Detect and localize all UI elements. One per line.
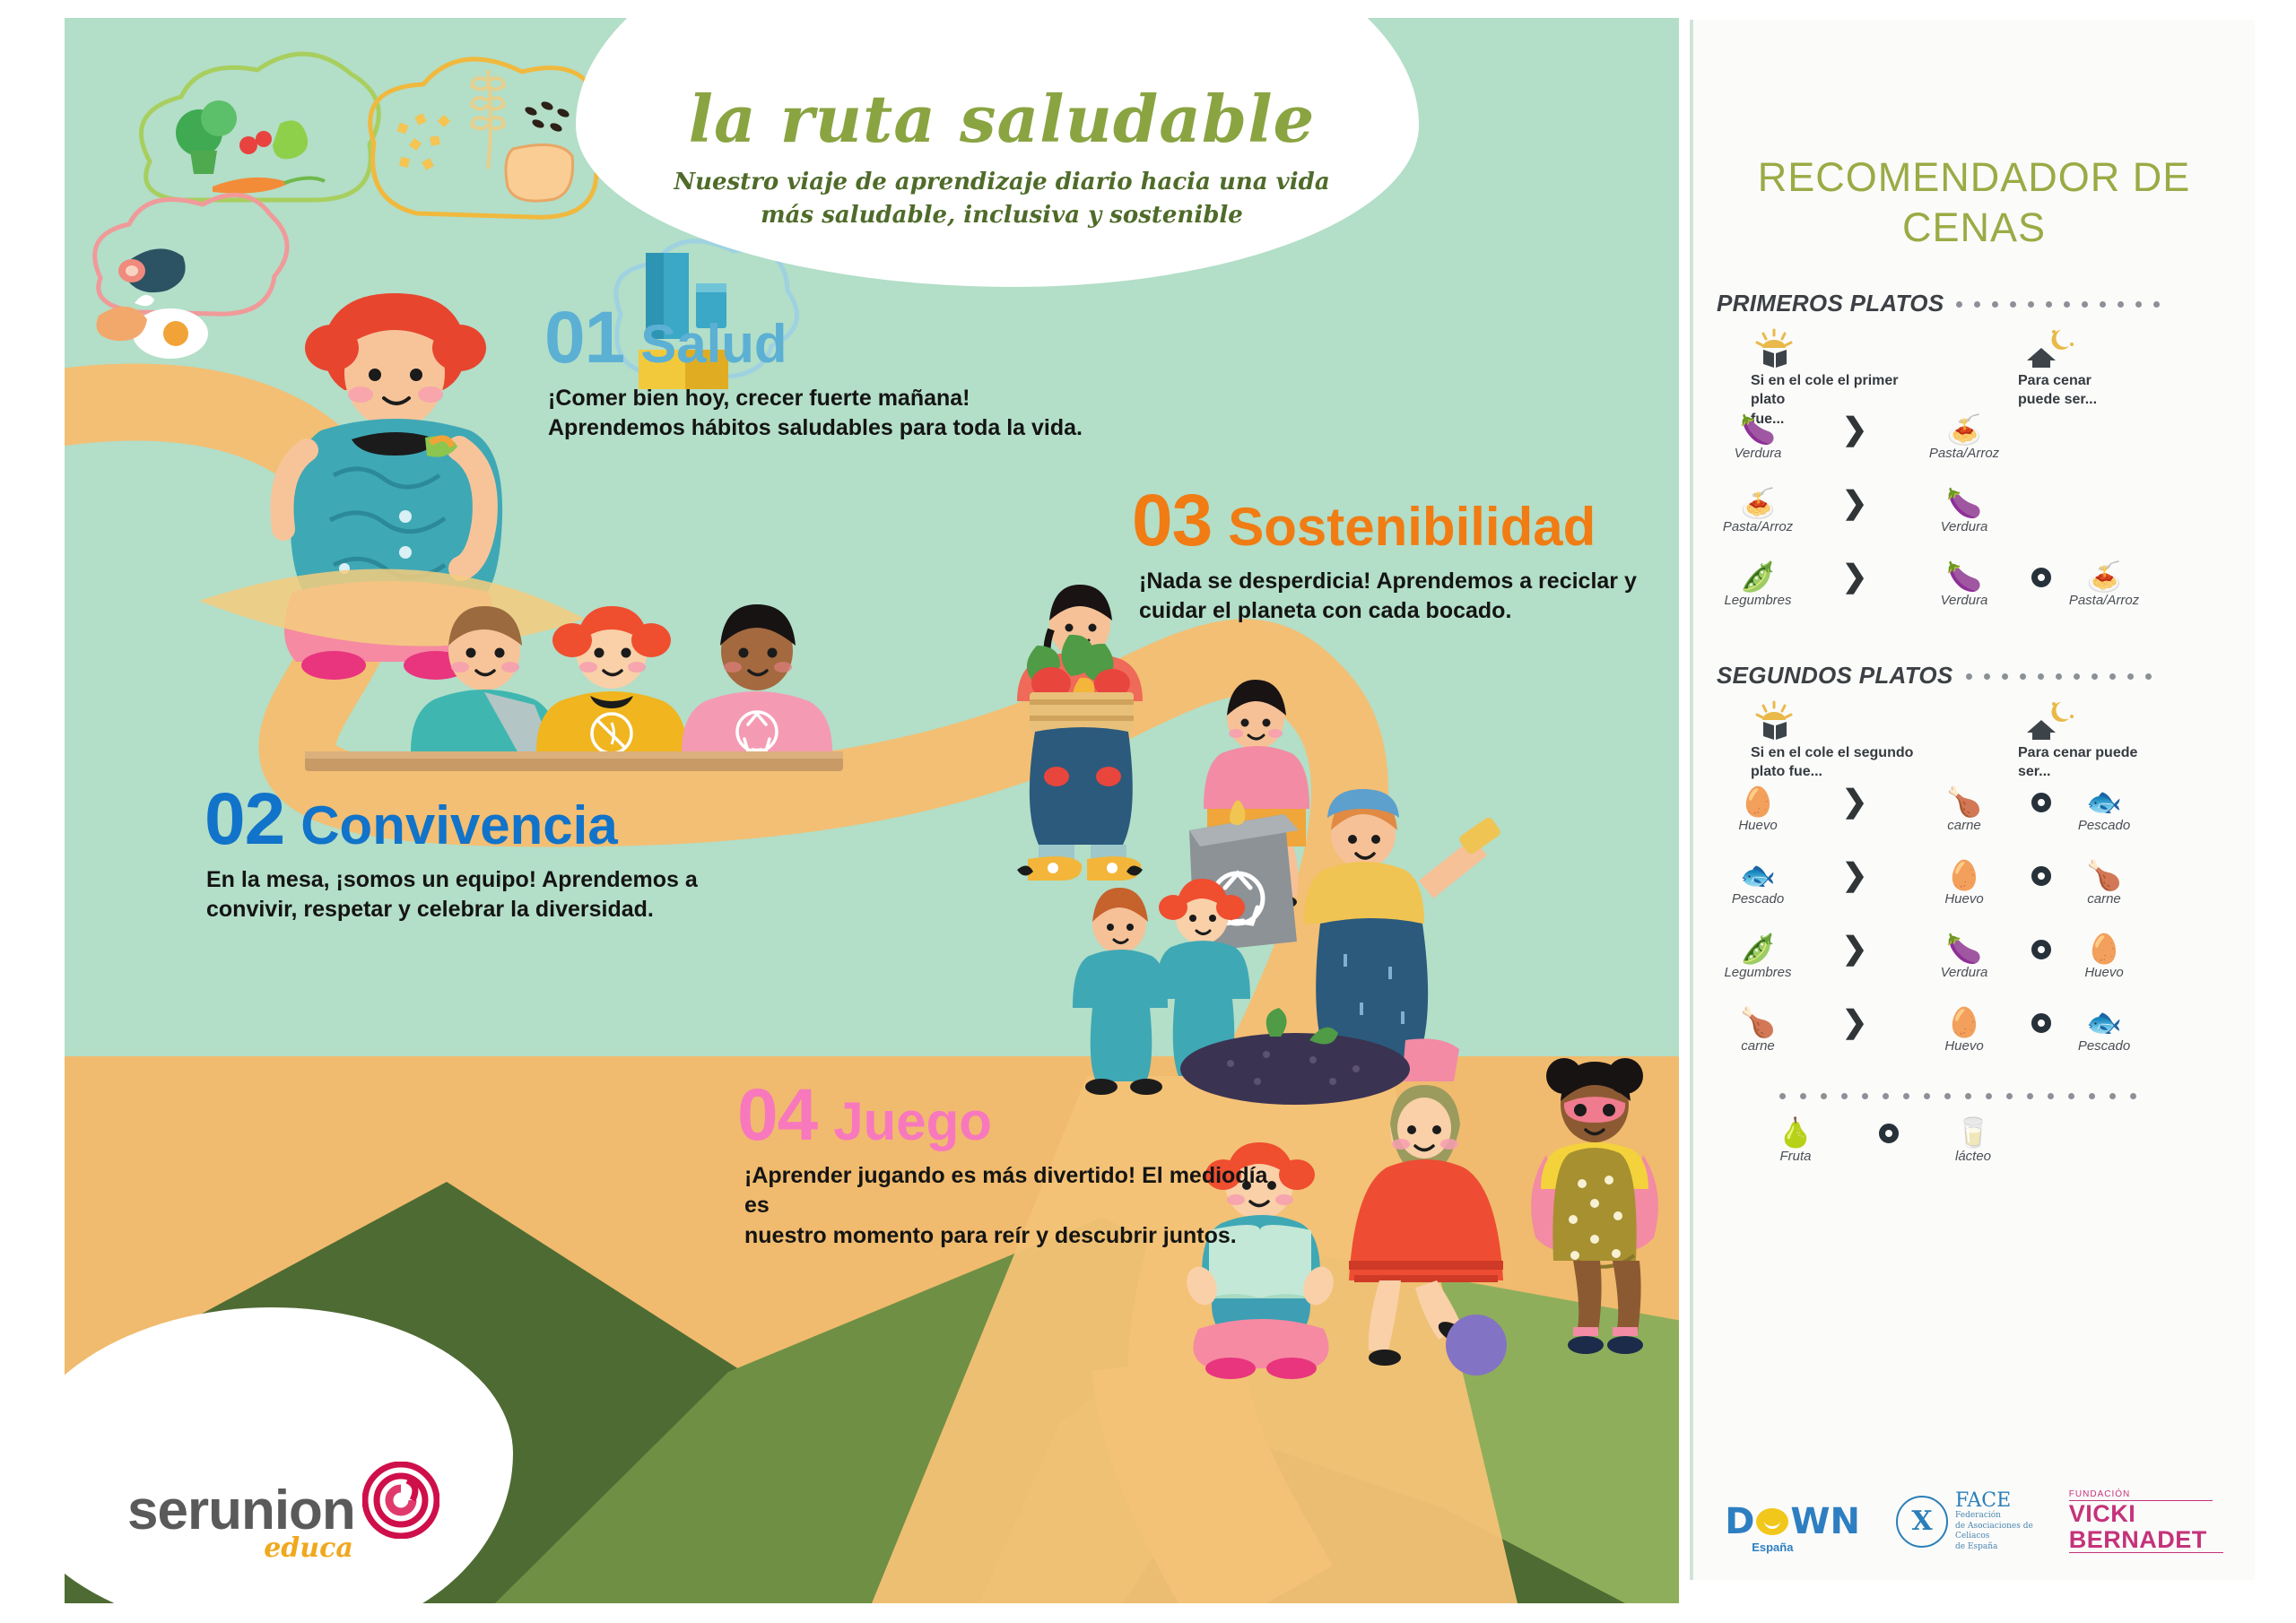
or-ring-icon — [2031, 866, 2051, 886]
moon-icon-2 — [2052, 702, 2074, 722]
postre-lacteo-label: lácteo — [1925, 1150, 2022, 1165]
segundos-row: 🫛Legumbres❯🍆Verdura🥚Huevo — [1693, 932, 2255, 1005]
pasta-bowl-icon: 🍝 — [1709, 486, 1806, 520]
primeros-to1-label: Verdura — [1916, 520, 2013, 535]
section-sostenibilidad-title: Sostenibilidad — [1228, 501, 1596, 552]
segundos-row: 🥚Huevo❯🍗carne🐟Pescado — [1693, 785, 2255, 858]
face-text: FACE Federación de Asociaciones de Celia… — [1955, 1490, 2033, 1553]
yogurt-icon: 🥛 — [1925, 1115, 2022, 1150]
primeros-row: 🍆Verdura❯🍝Pasta/Arroz — [1693, 412, 2255, 486]
egg-icon: 🥚 — [1916, 1005, 2013, 1039]
pea-pod-icon: 🫛 — [1709, 932, 1806, 966]
page-subtitle: Nuestro viaje de aprendizaje diario haci… — [621, 166, 1383, 233]
pasta-bowl-icon: 🍝 — [1916, 412, 2013, 447]
egg-icon: 🥚 — [1709, 785, 1806, 819]
moon-icon — [2052, 330, 2074, 350]
primeros-dinner-line2: puede ser... — [2018, 390, 2152, 410]
face-desc-2: de Asociaciones de — [1955, 1522, 2033, 1532]
section-convivencia: 02 Convivencia En la mesa, ¡somos un equ… — [197, 785, 717, 925]
brand-tagline: educa — [264, 1532, 353, 1564]
section-juego-number: 04 — [737, 1081, 817, 1150]
meat-icon: 🍗 — [2056, 858, 2152, 892]
or-ring-icon — [2031, 1013, 2051, 1033]
eggplant-icon: 🍆 — [1709, 412, 1806, 447]
juego-desc-line-2: nuestro momento para reír y descubrir ju… — [744, 1221, 1284, 1252]
title-block: la ruta saludable Nuestro viaje de apren… — [621, 85, 1383, 233]
postre-row: 🍐 Fruta 🥛 lácteo — [1693, 1115, 2255, 1189]
segundos-to2-cell: 🍗carne — [2056, 858, 2152, 907]
segundos-to2-cell: 🐟Pescado — [2056, 785, 2152, 834]
section-sostenibilidad-heading: 03 Sostenibilidad — [1132, 486, 1652, 556]
segundos-platos-header: SEGUNDOS PLATOS — [1717, 662, 2255, 690]
brand-name: serunion — [127, 1483, 355, 1539]
subtitle-line-1: Nuestro viaje de aprendizaje diario haci… — [621, 166, 1383, 200]
primeros-to2-label: Pasta/Arroz — [2056, 594, 2152, 609]
segundos-rows: 🥚Huevo❯🍗carne🐟Pescado🐟Pescado❯🥚Huevo🍗car… — [1693, 785, 2255, 1079]
or-ring-icon — [2031, 568, 2051, 587]
or-ring-icon — [1879, 1124, 1899, 1143]
convivencia-desc-line-2: convivir, respetar y celebrar la diversi… — [206, 895, 717, 925]
sun-book-icon-group-2 — [1751, 699, 1831, 740]
segundos-school-line1: Si en el cole el segundo — [1751, 743, 1921, 763]
down-letter-d: D — [1725, 1504, 1754, 1540]
or-ring-icon — [2031, 940, 2051, 959]
recommender-title-line-2: CENAS — [1724, 203, 2224, 253]
vicki-line-2: BERNADET — [2069, 1527, 2223, 1553]
primeros-to1-cell: 🍝Pasta/Arroz — [1916, 412, 2013, 462]
primeros-from-label: Legumbres — [1709, 594, 1806, 609]
school-icons — [1751, 326, 1921, 368]
segundos-dinner-line2: ser... — [2018, 762, 2152, 782]
down-letters-wn: WN — [1790, 1504, 1860, 1540]
primeros-row: 🍝Pasta/Arroz❯🍆Verdura — [1693, 486, 2255, 560]
sostenibilidad-desc-line-2: cuidar el planeta con cada bocado. — [1139, 596, 1652, 627]
primeros-school-line1: Si en el cole el primer plato — [1751, 371, 1921, 410]
face-name: FACE — [1955, 1490, 2033, 1511]
segundos-from-cell: 🫛Legumbres — [1709, 932, 1806, 981]
segundos-dinner-text: Para cenar puede ser... — [2018, 743, 2152, 782]
section-juego-description: ¡Aprender jugando es más divertido! El m… — [744, 1161, 1284, 1252]
segundos-col-dinner: Para cenar puede ser... — [2018, 699, 2152, 782]
recommender-title: RECOMENDADOR DE CENAS — [1724, 152, 2224, 254]
primeros-arrow-cell: ❯ — [1828, 560, 1882, 594]
primeros-from-cell: 🍝Pasta/Arroz — [1709, 486, 1806, 535]
segundos-to1-cell: 🍗carne — [1916, 785, 2013, 834]
postre-or-cell — [1869, 1115, 1909, 1143]
section-juego-title: Juego — [833, 1096, 992, 1147]
serunion-wordmark: serunion educa — [127, 1483, 355, 1539]
eggplant-icon: 🍆 — [1916, 932, 2013, 966]
primeros-from-label: Pasta/Arroz — [1709, 520, 1806, 535]
salud-desc-line-1: ¡Comer bien hoy, crecer fuerte mañana! — [548, 384, 1118, 414]
fish-icon: 🐟 — [1709, 858, 1806, 892]
segundos-to2-label: Pescado — [2056, 819, 2152, 834]
segundos-to1-label: Huevo — [1916, 1039, 2013, 1055]
segundos-from-cell: 🍗carne — [1709, 1005, 1806, 1055]
down-espana-logo: D WN España — [1725, 1504, 1860, 1540]
primeros-platos-label: PRIMEROS PLATOS — [1717, 290, 1944, 317]
segundos-arrow-cell: ❯ — [1828, 1005, 1882, 1039]
meat-icon: 🍗 — [1709, 1005, 1806, 1039]
segundos-to2-cell: 🐟Pescado — [2056, 1005, 2152, 1055]
dinner-recommender-panel: RECOMENDADOR DE CENAS PRIMEROS PLATOS — [1690, 20, 2255, 1580]
section-salud-number: 01 — [544, 303, 624, 373]
serunion-educa-logo: serunion educa — [127, 1462, 439, 1539]
section-sostenibilidad-description: ¡Nada se desperdicia! Aprendemos a recic… — [1139, 567, 1652, 627]
face-desc-4: de España — [1955, 1542, 2033, 1553]
primeros-to1-cell: 🍆Verdura — [1916, 486, 2013, 535]
segundos-to1-cell: 🥚Huevo — [1916, 1005, 2013, 1055]
fish-icon: 🐟 — [2056, 785, 2152, 819]
postre-lacteo-cell: 🥛 lácteo — [1925, 1115, 2022, 1165]
segundos-dinner-line1: Para cenar puede — [2018, 743, 2152, 763]
egg-icon: 🥚 — [1916, 858, 2013, 892]
sun-body — [1762, 340, 1786, 348]
segundos-to1-cell: 🥚Huevo — [1916, 858, 2013, 907]
section-salud-description: ¡Comer bien hoy, crecer fuerte mañana! A… — [548, 384, 1118, 444]
chevron-right-icon: ❯ — [1828, 785, 1882, 819]
segundos-school-text: Si en el cole el segundo plato fue... — [1751, 743, 1921, 782]
segundos-to1-cell: 🍆Verdura — [1916, 932, 2013, 981]
postre-fruta-label: Fruta — [1747, 1150, 1844, 1165]
postre-fruta-cell: 🍐 Fruta — [1747, 1115, 1844, 1165]
primeros-platos-header: PRIMEROS PLATOS — [1717, 290, 2255, 317]
book-icon-2 — [1763, 722, 1787, 740]
face-dna-wheat-icon: X — [1896, 1496, 1948, 1548]
postre-dots-divider — [1779, 1093, 2255, 1099]
segundos-to2-label: Huevo — [2056, 966, 2152, 981]
salud-desc-line-2: Aprendemos hábitos saludables para toda … — [548, 413, 1118, 444]
segundos-dots-divider — [1966, 671, 2255, 680]
section-juego: 04 Juego ¡Aprender jugando es más divert… — [737, 1081, 1284, 1251]
primeros-from-label: Verdura — [1709, 447, 1806, 462]
subtitle-line-2: más saludable, inclusiva y sostenible — [621, 199, 1383, 233]
segundos-from-cell: 🐟Pescado — [1709, 858, 1806, 907]
down-smiley-o-icon — [1756, 1508, 1788, 1535]
recommender-title-line-1: RECOMENDADOR DE — [1724, 152, 2224, 203]
section-salud-title: Salud — [640, 318, 787, 369]
vicki-bernadet-logo: FUNDACIÓN VICKI BERNADET — [2069, 1489, 2223, 1553]
section-salud-heading: 01 Salud — [544, 303, 1118, 373]
section-sostenibilidad: 03 Sostenibilidad ¡Nada se desperdicia! … — [1132, 486, 1652, 627]
segundos-from-label: Pescado — [1709, 892, 1806, 907]
section-salud: 01 Salud ¡Comer bien hoy, crecer fuerte … — [544, 303, 1118, 444]
face-desc-1: Federación — [1955, 1511, 2033, 1522]
meat-icon: 🍗 — [1916, 785, 2013, 819]
infographic-panel: la ruta saludable Nuestro viaje de apren… — [65, 18, 1679, 1603]
school-icons-2 — [1751, 699, 1921, 740]
primeros-row: 🫛Legumbres❯🍆Verdura🍝Pasta/Arroz — [1693, 560, 2255, 633]
primeros-dinner-text: Para cenar puede ser... — [2018, 371, 2152, 410]
segundos-to1-label: Verdura — [1916, 966, 2013, 981]
segundos-column-headers: Si en el cole el segundo plato fue... — [1693, 699, 2255, 785]
chevron-right-icon: ❯ — [1828, 560, 1882, 594]
primeros-dots-divider — [1956, 299, 2255, 308]
segundos-to2-label: carne — [2056, 892, 2152, 907]
primeros-from-cell: 🫛Legumbres — [1709, 560, 1806, 609]
chevron-right-icon: ❯ — [1828, 1005, 1882, 1039]
chevron-right-icon: ❯ — [1828, 412, 1882, 447]
segundos-platos-label: SEGUNDOS PLATOS — [1717, 662, 1953, 690]
partner-logos: D WN España X FACE Federación de Asociac… — [1693, 1489, 2255, 1553]
vicki-line-1: VICKI — [2069, 1501, 2136, 1526]
house-icon-2 — [2027, 720, 2056, 740]
sun-body-2 — [1762, 712, 1786, 720]
or-ring-icon — [2031, 793, 2051, 812]
convivencia-desc-line-1: En la mesa, ¡somos un equipo! Aprendemos… — [206, 865, 717, 896]
chevron-right-icon: ❯ — [1828, 858, 1882, 892]
segundos-to1-label: carne — [1916, 819, 2013, 834]
primeros-rows: 🍆Verdura❯🍝Pasta/Arroz🍝Pasta/Arroz❯🍆Verdu… — [1693, 412, 2255, 633]
primeros-arrow-cell: ❯ — [1828, 412, 1882, 447]
segundos-col-school: Si en el cole el segundo plato fue... — [1751, 699, 1921, 782]
egg-icon: 🥚 — [2056, 932, 2152, 966]
primeros-col-dinner: Para cenar puede ser... — [2018, 326, 2152, 410]
poster-root: la ruta saludable Nuestro viaje de apren… — [0, 0, 2296, 1623]
sostenibilidad-desc-line-1: ¡Nada se desperdicia! Aprendemos a recic… — [1139, 567, 1652, 597]
primeros-column-headers: Si en el cole el primer plato fue... — [1693, 326, 2255, 412]
eggplant-icon: 🍆 — [1916, 560, 2013, 594]
segundos-row: 🍗carne❯🥚Huevo🐟Pescado — [1693, 1005, 2255, 1079]
segundos-to2-cell: 🥚Huevo — [2056, 932, 2152, 981]
section-convivencia-description: En la mesa, ¡somos un equipo! Aprendemos… — [206, 865, 717, 925]
fruit-icon: 🍐 — [1747, 1115, 1844, 1150]
primeros-to1-label: Verdura — [1916, 594, 2013, 609]
segundos-arrow-cell: ❯ — [1828, 932, 1882, 966]
primeros-from-cell: 🍆Verdura — [1709, 412, 1806, 462]
book-icon — [1763, 350, 1787, 368]
segundos-arrow-cell: ❯ — [1828, 858, 1882, 892]
juego-desc-line-1: ¡Aprender jugando es más divertido! El m… — [744, 1161, 1284, 1221]
primeros-to1-label: Pasta/Arroz — [1916, 447, 2013, 462]
sun-book-icon-group — [1751, 326, 1831, 368]
segundos-to2-label: Pescado — [2056, 1039, 2152, 1055]
eggplant-icon: 🍆 — [1916, 486, 2013, 520]
dinner-icons — [2018, 326, 2152, 368]
chevron-right-icon: ❯ — [1828, 486, 1882, 520]
face-desc-3: Celiacos — [1955, 1532, 2033, 1542]
moon-house-icon-group — [2018, 326, 2090, 368]
chevron-right-icon: ❯ — [1828, 932, 1882, 966]
serunion-swirl-icon — [362, 1462, 439, 1539]
primeros-to2-cell: 🍝Pasta/Arroz — [2056, 560, 2152, 609]
down-subtitle: España — [1752, 1541, 1793, 1554]
primeros-dinner-line1: Para cenar — [2018, 371, 2152, 391]
pea-pod-icon: 🫛 — [1709, 560, 1806, 594]
segundos-arrow-cell: ❯ — [1828, 785, 1882, 819]
segundos-school-line2: plato fue... — [1751, 762, 1921, 782]
primeros-arrow-cell: ❯ — [1828, 486, 1882, 520]
dinner-icons-2 — [2018, 699, 2152, 740]
segundos-row: 🐟Pescado❯🥚Huevo🍗carne — [1693, 858, 2255, 932]
segundos-from-label: Huevo — [1709, 819, 1806, 834]
fish-icon: 🐟 — [2056, 1005, 2152, 1039]
moon-house-icon-group-2 — [2018, 699, 2090, 740]
segundos-from-label: Legumbres — [1709, 966, 1806, 981]
segundos-to1-label: Huevo — [1916, 892, 2013, 907]
section-juego-heading: 04 Juego — [737, 1081, 1284, 1150]
page-title: la ruta saludable — [621, 85, 1383, 153]
primeros-to1-cell: 🍆Verdura — [1916, 560, 2013, 609]
section-convivencia-heading: 02 Convivencia — [197, 785, 717, 855]
pasta-bowl-icon: 🍝 — [2056, 560, 2152, 594]
segundos-from-cell: 🥚Huevo — [1709, 785, 1806, 834]
section-sostenibilidad-number: 03 — [1132, 486, 1212, 556]
segundos-from-label: carne — [1709, 1039, 1806, 1055]
section-convivencia-number: 02 — [204, 785, 284, 855]
section-convivencia-title: Convivencia — [300, 800, 617, 851]
face-logo: X FACE Federación de Asociaciones de Cel… — [1896, 1490, 2033, 1553]
house-icon — [2027, 348, 2056, 368]
